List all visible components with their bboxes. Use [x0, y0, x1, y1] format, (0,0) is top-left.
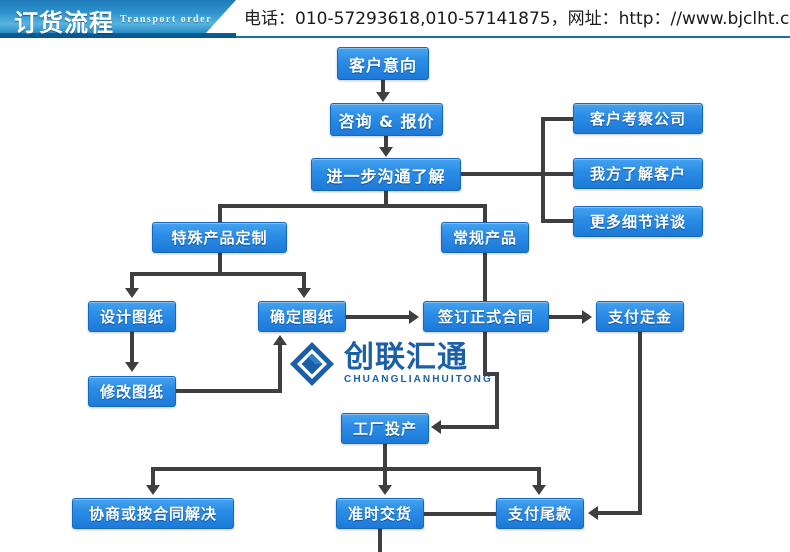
arrowhead-sign-to-deposit [582, 310, 592, 324]
logo-name-en: CHUANGLIANHUITONG [344, 373, 493, 386]
flowchart-page: 订货流程 Transport order 电话：010-57293618,010… [0, 0, 790, 552]
connector-bus-to-standard-product [483, 204, 487, 224]
connector-factory-bus [151, 467, 541, 471]
connector-bus-to-balance [537, 467, 541, 486]
connector-right-vertical-bus [541, 117, 545, 222]
node-revise-drawing[interactable]: 修改图纸 [88, 376, 176, 407]
arrowhead-confirm-to-sign [409, 310, 419, 324]
connector-deposit-to-balance [598, 511, 642, 515]
arrowhead-deposit-to-balance [588, 506, 598, 520]
node-more-details[interactable]: 更多细节详谈 [573, 206, 703, 237]
company-logo: 创联汇通 CHUANGLIANHUITONG [288, 340, 493, 388]
connector-standard-to-sign [483, 253, 487, 303]
node-further-communication[interactable]: 进一步沟通了解 [311, 158, 461, 191]
node-custom-product[interactable]: 特殊产品定制 [152, 222, 287, 253]
page-header: 订货流程 Transport order 电话：010-57293618,010… [0, 0, 790, 41]
node-pay-balance[interactable]: 支付尾款 [496, 498, 584, 529]
connector-bus-to-design-drawing [130, 272, 134, 289]
node-customer-visit[interactable]: 客户考察公司 [573, 103, 703, 134]
connector-bus-to-we-know-customer [541, 172, 575, 176]
connector-delivery-down [378, 529, 382, 552]
node-confirm-drawing[interactable]: 确定图纸 [258, 301, 346, 332]
connector-design-to-revise [130, 332, 134, 362]
node-inquiry-quote[interactable]: 咨询 & 报价 [330, 103, 443, 136]
arrowhead-design-to-revise [125, 362, 139, 372]
connector-into-factory [441, 425, 499, 429]
connector-sign-down [483, 332, 487, 376]
node-negotiate-or-contract[interactable]: 协商或按合同解决 [72, 498, 234, 529]
node-factory-production[interactable]: 工厂投产 [341, 413, 429, 444]
node-design-drawing[interactable]: 设计图纸 [88, 301, 176, 332]
connector-sign-to-deposit [549, 315, 583, 319]
node-customer-intent[interactable]: 客户意向 [337, 47, 429, 80]
arrowhead-intent-to-inquiry [376, 92, 390, 102]
arrowhead-to-negotiate [146, 485, 160, 495]
connector-revise-to-confirm-h [176, 389, 282, 393]
connector-bus-to-customer-visit [541, 117, 575, 121]
connector-bus-to-custom-product [218, 204, 222, 224]
node-pay-deposit[interactable]: 支付定金 [596, 301, 684, 332]
connector-drawing-bus [130, 272, 306, 276]
connector-sign-to-factory-v [495, 372, 499, 428]
logo-name-cn: 创联汇通 [344, 343, 493, 373]
arrowhead-revise-to-confirm [273, 335, 287, 345]
node-sign-contract[interactable]: 签订正式合同 [423, 301, 549, 332]
connector-deposit-down [638, 332, 642, 512]
arrowhead-to-confirm-drawing [297, 288, 311, 298]
node-we-know-customer[interactable]: 我方了解客户 [573, 158, 703, 189]
header-title-cn: 订货流程 [14, 3, 114, 38]
arrowhead-to-design-drawing [125, 288, 139, 298]
header-rule [236, 36, 790, 38]
node-standard-product[interactable]: 常规产品 [441, 222, 529, 253]
logo-text: 创联汇通 CHUANGLIANHUITONG [344, 343, 493, 386]
arrowhead-into-factory [431, 420, 441, 434]
connector-delivery-to-balance [424, 512, 496, 516]
connector-bus-to-delivery [383, 467, 387, 486]
connector-bus-to-more-details [541, 219, 575, 223]
arrowhead-to-delivery [378, 485, 392, 495]
connector-branch-bus [218, 204, 486, 208]
header-contact-info: 电话：010-57293618,010-57141875，网址：http：//w… [244, 4, 790, 29]
connector-revise-to-confirm-v [278, 345, 282, 391]
arrowhead-inquiry-to-communication [379, 147, 393, 157]
connector-bus-to-confirm-drawing [302, 272, 306, 289]
connector-confirm-to-sign [346, 315, 410, 319]
logo-mark-icon [288, 340, 336, 388]
connector-bus-to-negotiate [151, 467, 155, 486]
arrowhead-to-balance [532, 485, 546, 495]
connector-communication-to-rightbus [461, 172, 545, 176]
node-on-time-delivery[interactable]: 准时交货 [336, 498, 424, 529]
header-title-en: Transport order [120, 14, 212, 25]
